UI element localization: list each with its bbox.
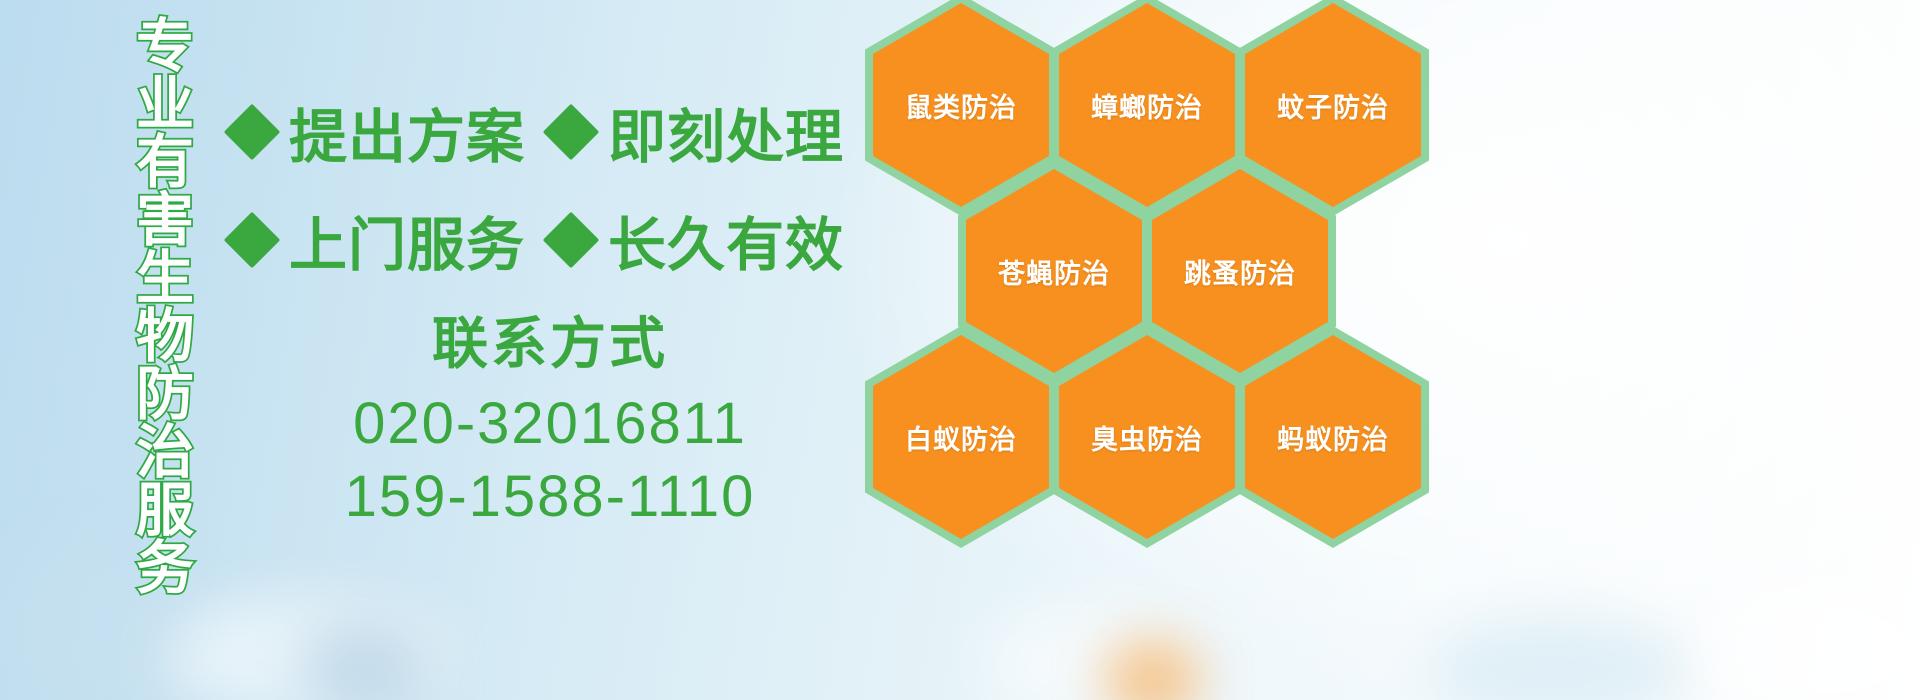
feature-item-door-to-door-service: 上门服务: [232, 198, 525, 282]
diamond-bullet-icon: [543, 104, 600, 161]
service-hex-inner: 蚊子防治: [1245, 3, 1421, 207]
service-hex-label: 跳蚤防治: [1184, 252, 1296, 291]
feature-row: 提出方案 即刻处理: [232, 78, 882, 186]
feature-label: 即刻处理: [608, 90, 844, 174]
feature-item-propose-plan: 提出方案: [232, 90, 525, 174]
vertical-headline-char: 害: [136, 192, 194, 250]
service-hex-label: 苍蝇防治: [998, 252, 1110, 291]
feature-list: 提出方案 即刻处理 上门服务 长久有效: [232, 78, 882, 294]
service-hex-inner: 跳蚤防治: [1152, 169, 1328, 373]
feature-item-long-lasting-effect: 长久有效: [551, 198, 844, 282]
vertical-headline: 专 业 有 害 生 物 防 治 服 务: [110, 18, 220, 578]
vertical-headline-char: 物: [136, 308, 194, 366]
contact-phone-mobile[interactable]: 159-1588-1110: [300, 461, 800, 534]
service-honeycomb-grid: 鼠类防治 蟑螂防治 蚊子防治 苍蝇防治 跳蚤防治 白蚁防治: [855, 0, 1455, 550]
vertical-headline-char: 业: [136, 76, 194, 134]
diamond-bullet-icon: [224, 212, 281, 269]
contact-phone-landline[interactable]: 020-32016811: [300, 388, 800, 461]
feature-item-immediate-handling: 即刻处理: [551, 90, 844, 174]
contact-block: 联系方式 020-32016811 159-1588-1110: [300, 312, 800, 533]
service-hex-inner: 蚂蚁防治: [1245, 335, 1421, 539]
service-hex-inner: 白蚁防治: [873, 335, 1049, 539]
vertical-headline-char: 防: [136, 366, 194, 424]
background-bokeh-blob: [300, 620, 430, 700]
vertical-headline-char: 服: [136, 482, 194, 540]
vertical-headline-char: 有: [136, 134, 194, 192]
diamond-bullet-icon: [224, 104, 281, 161]
diamond-bullet-icon: [543, 212, 600, 269]
vertical-headline-char: 专: [136, 18, 194, 76]
service-hex-label: 臭虫防治: [1091, 418, 1203, 457]
background-bokeh-blob: [1430, 615, 1690, 700]
vertical-headline-char: 务: [136, 540, 194, 598]
service-hex-label: 鼠类防治: [905, 86, 1017, 125]
service-hex-label: 蚂蚁防治: [1277, 418, 1389, 457]
service-hex-label: 白蚁防治: [905, 418, 1017, 457]
background-bokeh-blob: [150, 595, 450, 700]
feature-label: 提出方案: [289, 90, 525, 174]
service-hex-inner: 臭虫防治: [1059, 335, 1235, 539]
service-hex-inner: 鼠类防治: [873, 3, 1049, 207]
feature-row: 上门服务 长久有效: [232, 186, 882, 294]
service-hex-inner: 蟑螂防治: [1059, 3, 1235, 207]
feature-label: 长久有效: [608, 198, 844, 282]
background-bokeh-blob: [980, 600, 1200, 700]
service-hex-inner: 苍蝇防治: [966, 169, 1142, 373]
service-hex-label: 蚊子防治: [1277, 86, 1389, 125]
feature-label: 上门服务: [289, 198, 525, 282]
background-bokeh-blob: [1700, 580, 1920, 700]
vertical-headline-char: 治: [136, 424, 194, 482]
background-bokeh-blob: [1105, 640, 1200, 700]
service-hex-label: 蟑螂防治: [1091, 86, 1203, 125]
contact-title: 联系方式: [300, 312, 800, 376]
vertical-headline-char: 生: [136, 250, 194, 308]
pest-control-service-banner: 专 业 有 害 生 物 防 治 服 务 提出方案 即刻处理 上门服务: [0, 0, 1920, 700]
